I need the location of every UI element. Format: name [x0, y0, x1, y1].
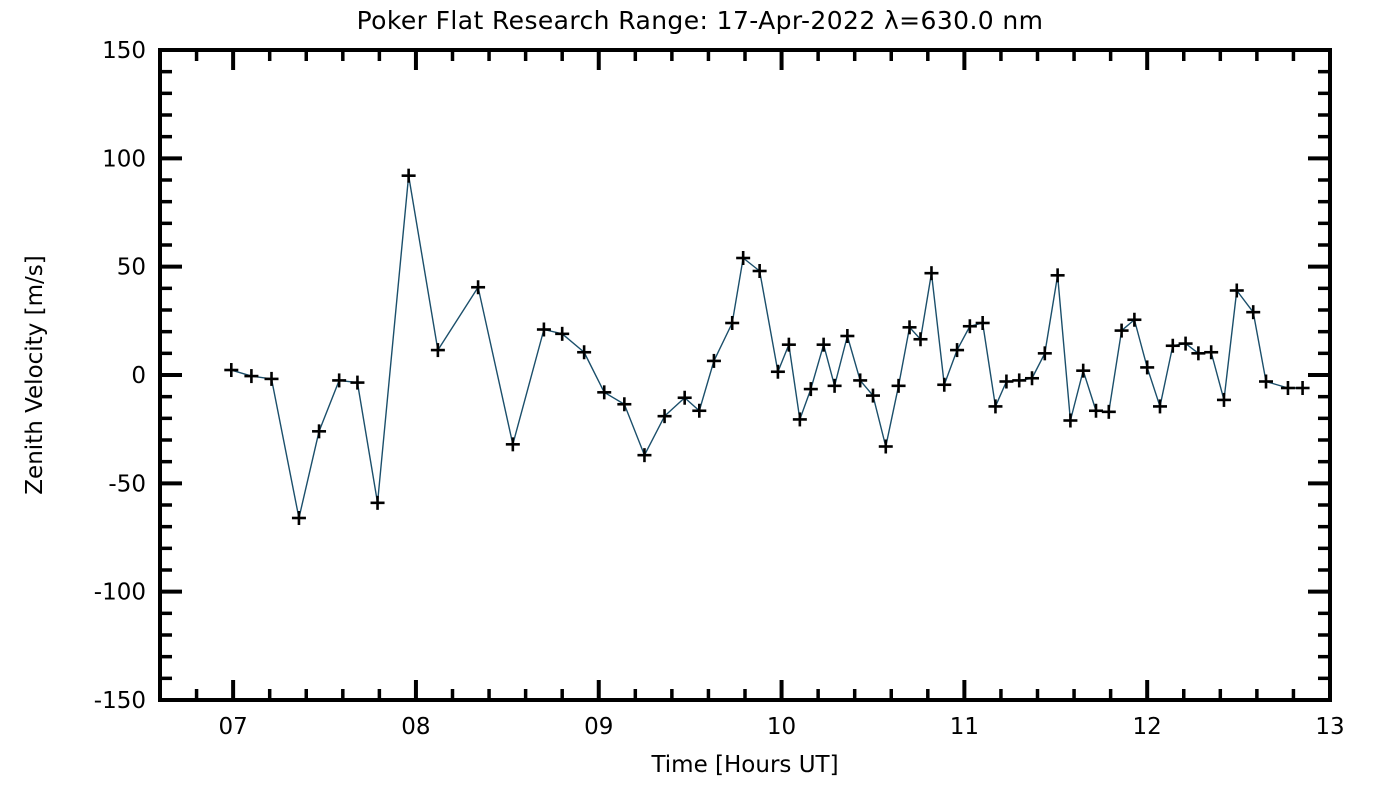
- plot-frame: [160, 50, 1330, 700]
- y-tick-label: -150: [94, 688, 146, 714]
- series-line: [231, 176, 1302, 518]
- y-tick-label: -100: [94, 580, 146, 606]
- x-tick-label: 07: [218, 714, 247, 740]
- x-tick-label: 13: [1315, 714, 1344, 740]
- x-tick-label: 09: [584, 714, 613, 740]
- x-tick-label: 10: [767, 714, 796, 740]
- x-tick-label: 08: [401, 714, 430, 740]
- x-tick-label: 12: [1133, 714, 1162, 740]
- y-tick-label: -50: [108, 471, 146, 497]
- y-tick-label: 150: [102, 38, 146, 64]
- y-tick-label: 100: [102, 146, 146, 172]
- x-tick-label: 11: [950, 714, 979, 740]
- plot-canvas: -150-100-5005010015007080910111213Time […: [0, 0, 1400, 800]
- y-tick-label: 0: [131, 363, 146, 389]
- y-tick-label: 50: [117, 255, 146, 281]
- series-markers: [224, 169, 1309, 525]
- y-axis-label: Zenith Velocity [m/s]: [22, 255, 48, 494]
- chart-page: Poker Flat Research Range: 17-Apr-2022 λ…: [0, 0, 1400, 800]
- x-axis-label: Time [Hours UT]: [650, 752, 838, 778]
